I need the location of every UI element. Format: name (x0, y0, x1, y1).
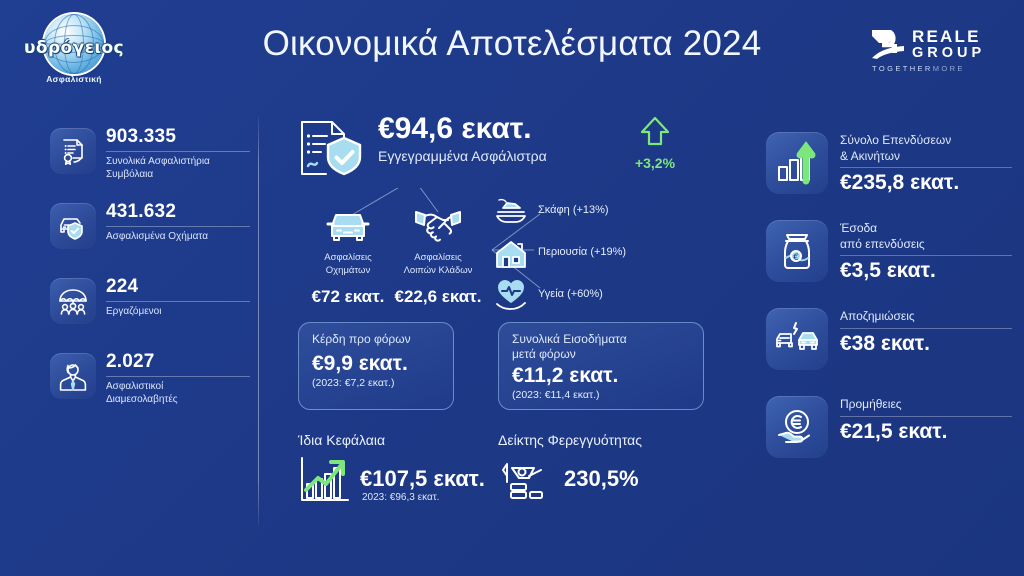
agent-person-icon (50, 353, 96, 399)
stat-label: Εργαζόμενοι (106, 305, 256, 318)
card-caption: Έσοδα από επενδύσεις (840, 221, 1012, 252)
card-value: €235,8 εκατ. (840, 170, 1012, 195)
stat-rule (106, 151, 250, 152)
stat-insured-vehicles: 431.632 Ασφαλισμένα Οχήματα (50, 203, 250, 273)
card-commissions: Προμήθειες €21,5 εκατ. (766, 396, 1012, 474)
profit-box-value: €11,2 εκατ. (512, 364, 690, 387)
metric-caption: Δείκτης Φερεγγυότητας (498, 432, 704, 448)
car-shield-icon (50, 203, 96, 249)
card-caption: Προμήθειες (840, 397, 1012, 413)
card-claims: Αποζημιώσεις €38 εκατ. (766, 308, 1012, 386)
car-crash-icon (766, 308, 828, 370)
card-rule (840, 328, 1012, 329)
profit-boxes: Κέρδη προ φόρων €9,9 εκατ. (2023: €7,2 ε… (290, 322, 702, 414)
card-caption: Σύνολο Επενδύσεων & Ακινήτων (840, 133, 1012, 164)
sub-item-health: Υγεία (+60%) (494, 280, 704, 314)
stat-value: 224 (106, 276, 256, 299)
reale-tagline: TOGETHERMORE (872, 64, 965, 73)
card-rule (840, 255, 1012, 256)
stat-label: Συνολικά Ασφαλιστήρια Συμβόλαια (106, 155, 256, 181)
stat-value: 431.632 (106, 201, 256, 224)
profit-box-aftertax: Συνολικά Εισοδήματα μετά φόρων €11,2 εκα… (498, 322, 704, 410)
card-investment-income: € Έσοδα από επενδύσεις €3,5 εκατ. (766, 220, 1012, 298)
metric-caption: Ίδια Κεφάλαια (298, 432, 498, 448)
sub-item-label: Υγεία (+60%) (538, 288, 603, 300)
hero-delta: +3,2% (620, 114, 690, 171)
hero-label: Εγγεγραμμένα Ασφάλιστρα (378, 148, 547, 164)
document-shield-check-icon (296, 118, 366, 180)
card-caption: Αποζημιώσεις (840, 309, 1012, 325)
branch-node-caption: Ασφαλίσεις Οχημάτων (296, 252, 400, 278)
stat-employees: 224 Εργαζόμενοι (50, 278, 250, 348)
metric-value: €107,5 εκατ. (360, 466, 485, 492)
stat-total-policies: 903.335 Συνολικά Ασφαλιστήρια Συμβόλαια (50, 128, 250, 198)
hero-value: €94,6 εκατ. (378, 112, 547, 147)
stat-value: 2.027 (106, 351, 256, 374)
branch-node-value: €72 εκατ. (296, 287, 400, 307)
branch-node-value: €22,6 εκατ. (386, 287, 490, 307)
hero-premiums: €94,6 εκατ. Εγγεγραμμένα Ασφάλιστρα +3,2… (290, 112, 702, 184)
metric-solvency: Δείκτης Φερεγγυότητας 230,5% (498, 432, 704, 510)
center-column: €94,6 εκατ. Εγγεγραμμένα Ασφάλιστρα +3,2… (290, 112, 702, 542)
policy-document-icon (50, 128, 96, 174)
reale-tagline-2: MORE (933, 64, 965, 73)
reale-mark-icon (870, 30, 906, 60)
profit-box-caption: Κέρδη προ φόρων (312, 332, 440, 347)
hydrogeios-subtitle: Ασφαλιστική (22, 74, 126, 84)
sub-item-property: Περιουσία (+19%) (494, 238, 704, 272)
card-value: €3,5 εκατ. (840, 258, 1012, 283)
house-icon (494, 238, 528, 270)
handshake-icon (386, 204, 490, 248)
branch-diagram: Ασφαλίσεις Οχημάτων €72 εκατ. Ασφαλίσεις… (290, 188, 702, 316)
sub-item-label: Περιουσία (+19%) (538, 246, 626, 258)
stat-rule (106, 376, 250, 377)
heart-hand-icon (494, 280, 528, 312)
bottom-metrics: Ίδια Κεφάλαια €107,5 εκατ. 2023: €96,3 ε… (290, 432, 702, 528)
reale-group-text: GROUP (912, 46, 985, 61)
growth-bar-chart-icon (298, 454, 352, 504)
metric-previous: 2023: €96,3 εκατ. (362, 492, 439, 503)
header: υδρόγειος Ασφαλιστική Οικονομικά Αποτελέ… (0, 0, 1024, 100)
branch-node-vehicles: Ασφαλίσεις Οχημάτων €72 εκατ. (296, 204, 400, 307)
right-cards-column: Σύνολο Επενδύσεων & Ακινήτων €235,8 εκατ… (766, 132, 1012, 484)
boat-icon (494, 196, 528, 228)
savings-jar-icon: € (766, 220, 828, 282)
profit-box-value: €9,9 εκατ. (312, 352, 440, 375)
reale-group-logo: REALE GROUP TOGETHERMORE (870, 28, 1000, 74)
card-value: €38 εκατ. (840, 331, 1012, 356)
sub-item-boats: Σκάφη (+13%) (494, 196, 704, 230)
investments-chart-arrow-icon (766, 132, 828, 194)
branch-node-other: Ασφαλίσεις Λοιπών Κλάδων €22,6 εκατ. (386, 204, 490, 307)
stat-rule (106, 226, 250, 227)
profit-box-previous: (2023: €11,4 εκατ.) (512, 389, 690, 401)
stat-label: Ασφαλιστικοί Διαμεσολαβητές (106, 380, 256, 406)
stat-rule (106, 301, 250, 302)
profit-box-caption: Συνολικά Εισοδήματα μετά φόρων (512, 332, 690, 363)
reale-tagline-1: TOGETHER (872, 64, 933, 73)
reale-name: REALE GROUP (912, 28, 985, 61)
hand-euro-icon (766, 396, 828, 458)
hero-delta-value: +3,2% (620, 155, 690, 171)
profit-box-previous: (2023: €7,2 εκατ.) (312, 377, 440, 389)
reale-name-text: REALE (912, 27, 981, 46)
card-value: €21,5 εκατ. (840, 419, 1012, 444)
left-stats-column: 903.335 Συνολικά Ασφαλιστήρια Συμβόλαια … (50, 128, 250, 428)
branch-sub-items: Σκάφη (+13%) Περιουσία (+19%) (494, 196, 704, 322)
vertical-divider (258, 116, 259, 526)
metric-value: 230,5% (564, 466, 639, 492)
arrow-up-icon (638, 114, 672, 148)
profit-box-pretax: Κέρδη προ φόρων €9,9 εκατ. (2023: €7,2 ε… (298, 322, 454, 410)
stat-agents: 2.027 Ασφαλιστικοί Διαμεσολαβητές (50, 353, 250, 423)
stat-value: 903.335 (106, 126, 256, 149)
card-rule (840, 416, 1012, 417)
metric-equity: Ίδια Κεφάλαια €107,5 εκατ. 2023: €96,3 ε… (298, 432, 498, 510)
card-rule (840, 167, 1012, 168)
stat-label: Ασφαλισμένα Οχήματα (106, 230, 256, 243)
solvency-hand-coins-icon (498, 454, 554, 504)
card-total-investments: Σύνολο Επενδύσεων & Ακινήτων €235,8 εκατ… (766, 132, 1012, 210)
branch-node-caption: Ασφαλίσεις Λοιπών Κλάδων (386, 252, 490, 278)
svg-text:€: € (793, 253, 799, 263)
umbrella-people-icon (50, 278, 96, 324)
car-front-icon (296, 204, 400, 248)
sub-item-label: Σκάφη (+13%) (538, 204, 609, 216)
